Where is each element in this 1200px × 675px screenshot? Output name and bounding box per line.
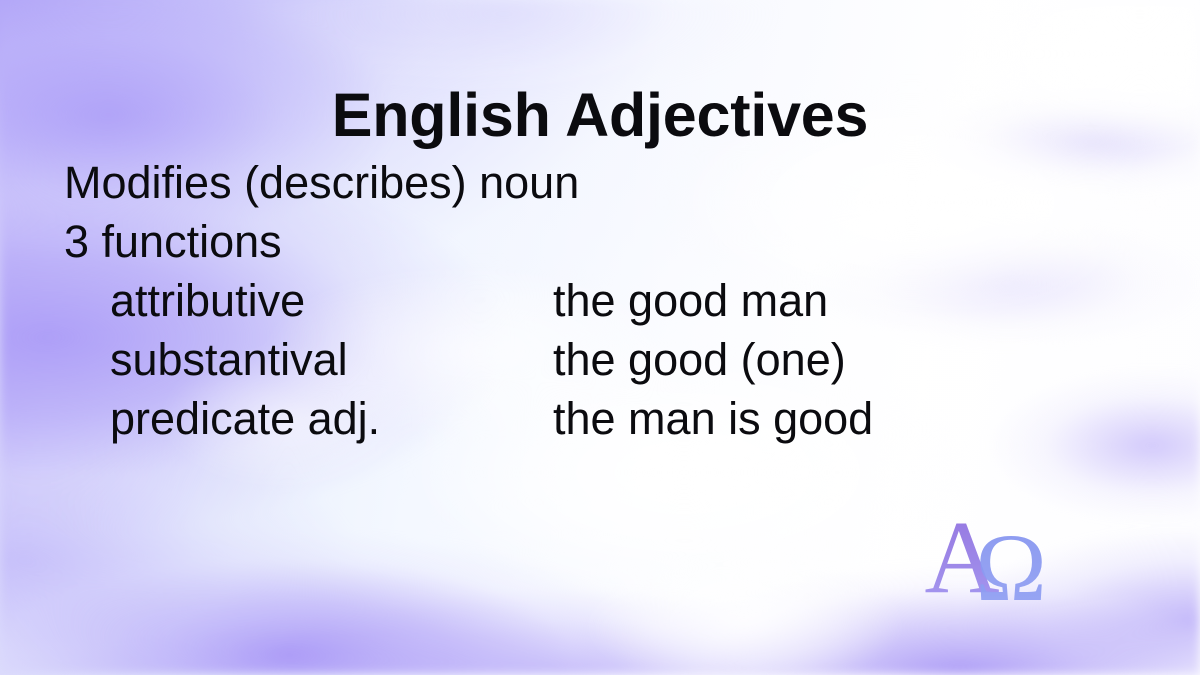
function-name: predicate adj. <box>110 396 380 441</box>
function-example: the good man <box>553 278 828 323</box>
function-row: predicate adj. the man is good <box>110 396 1010 446</box>
svg-text:Ω: Ω <box>975 514 1046 606</box>
function-row: substantival the good (one) <box>110 337 1010 387</box>
presentation-slide: English Adjectives Modifies (describes) … <box>0 0 1200 675</box>
alpha-omega-logo-icon: Α Ω <box>918 500 1068 606</box>
function-name: attributive <box>110 278 305 323</box>
function-name: substantival <box>110 337 348 382</box>
body-line-functions: 3 functions <box>64 219 282 264</box>
page-title: English Adjectives <box>0 83 1200 147</box>
function-example: the man is good <box>553 396 873 441</box>
function-row: attributive the good man <box>110 278 1010 328</box>
slide-content: English Adjectives Modifies (describes) … <box>0 0 1200 675</box>
body-line-modifies: Modifies (describes) noun <box>64 160 579 205</box>
function-example: the good (one) <box>553 337 846 382</box>
